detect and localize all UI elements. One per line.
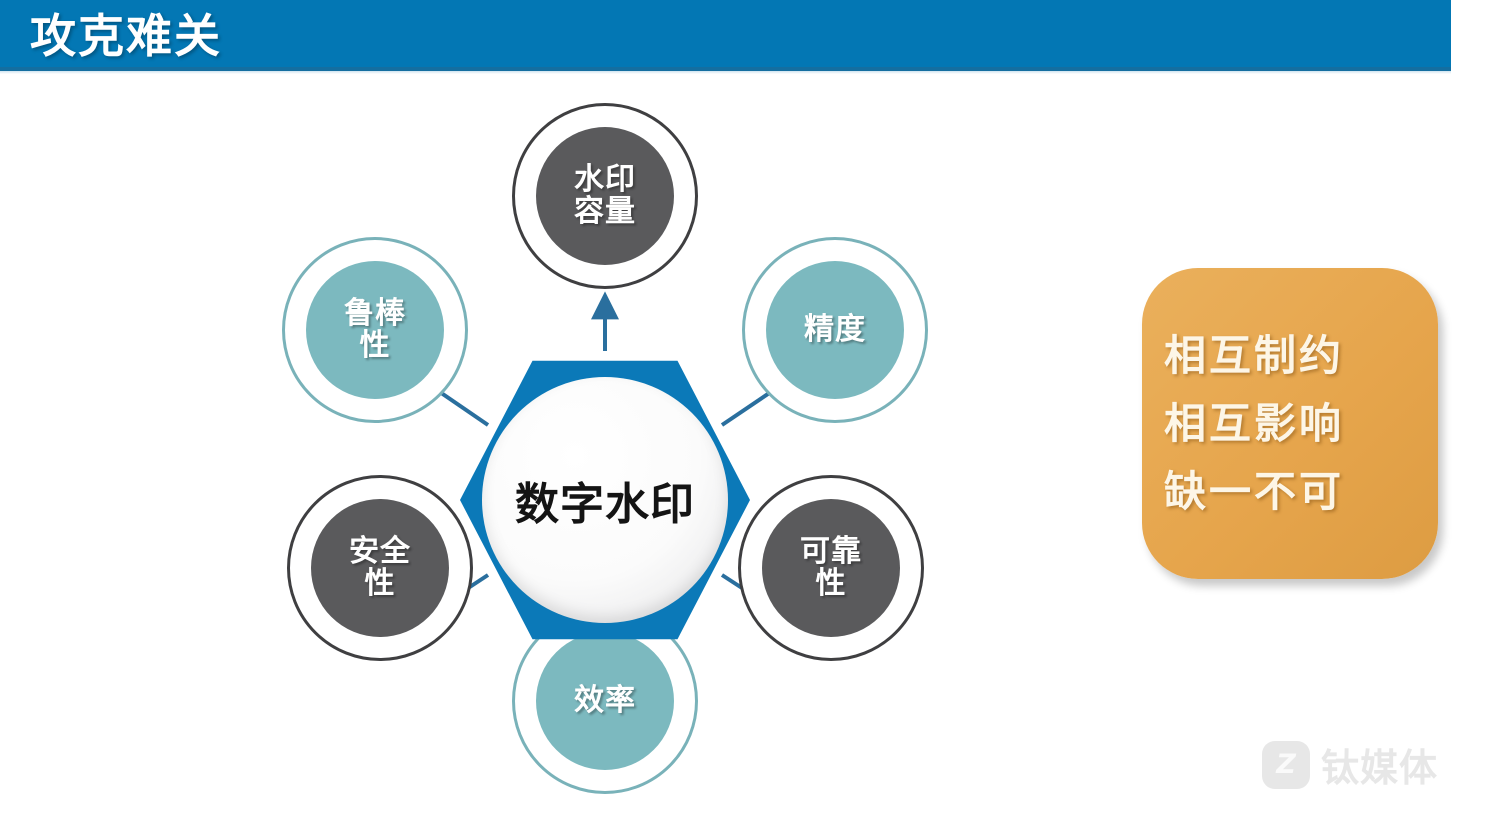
node-inner: 水印容量 (536, 127, 674, 265)
callout-line-2: 相互影响 (1164, 403, 1344, 445)
node-inner: 效率 (536, 632, 674, 770)
watermark-brand: 钛媒体 (1321, 737, 1438, 792)
node-label-security: 安全性 (349, 536, 411, 601)
node-label-accuracy: 精度 (804, 314, 866, 346)
footer-faint-text (950, 745, 1280, 771)
slide-canvas: 攻克难关 水印容量 (0, 0, 1495, 817)
hub-and-spoke-diagram: 水印容量 鲁棒性 精度 安全性 可靠性 (255, 75, 955, 817)
node-label-efficiency: 效率 (574, 685, 636, 717)
node-inner: 鲁棒性 (306, 261, 444, 399)
node-label-capacity: 水印容量 (574, 164, 636, 229)
node-label-reliability: 可靠性 (800, 536, 862, 601)
callout-line-3: 缺一不可 (1164, 471, 1344, 513)
watermark-logo-icon: Z (1262, 741, 1310, 789)
node-label-robustness: 鲁棒性 (344, 298, 406, 363)
callout-panel: 相互制约 相互影响 缺一不可 (1142, 268, 1438, 579)
node-inner: 可靠性 (762, 499, 900, 637)
callout-line-1: 相互制约 (1164, 335, 1344, 377)
center-hub[interactable]: 数字水印 (460, 355, 750, 645)
node-reliability[interactable]: 可靠性 (738, 475, 924, 661)
node-security[interactable]: 安全性 (287, 475, 473, 661)
header-underline (0, 71, 1451, 74)
node-inner: 安全性 (311, 499, 449, 637)
center-label: 数字水印 (515, 468, 695, 532)
header-band: 攻克难关 (0, 0, 1451, 71)
node-capacity[interactable]: 水印容量 (512, 103, 698, 289)
center-circle: 数字水印 (482, 377, 728, 623)
watermark: Z 钛媒体 (1262, 737, 1438, 792)
watermark-logo-glyph: Z (1262, 741, 1310, 789)
node-robustness[interactable]: 鲁棒性 (282, 237, 468, 423)
node-inner: 精度 (766, 261, 904, 399)
page-title: 攻克难关 (30, 5, 222, 67)
node-accuracy[interactable]: 精度 (742, 237, 928, 423)
